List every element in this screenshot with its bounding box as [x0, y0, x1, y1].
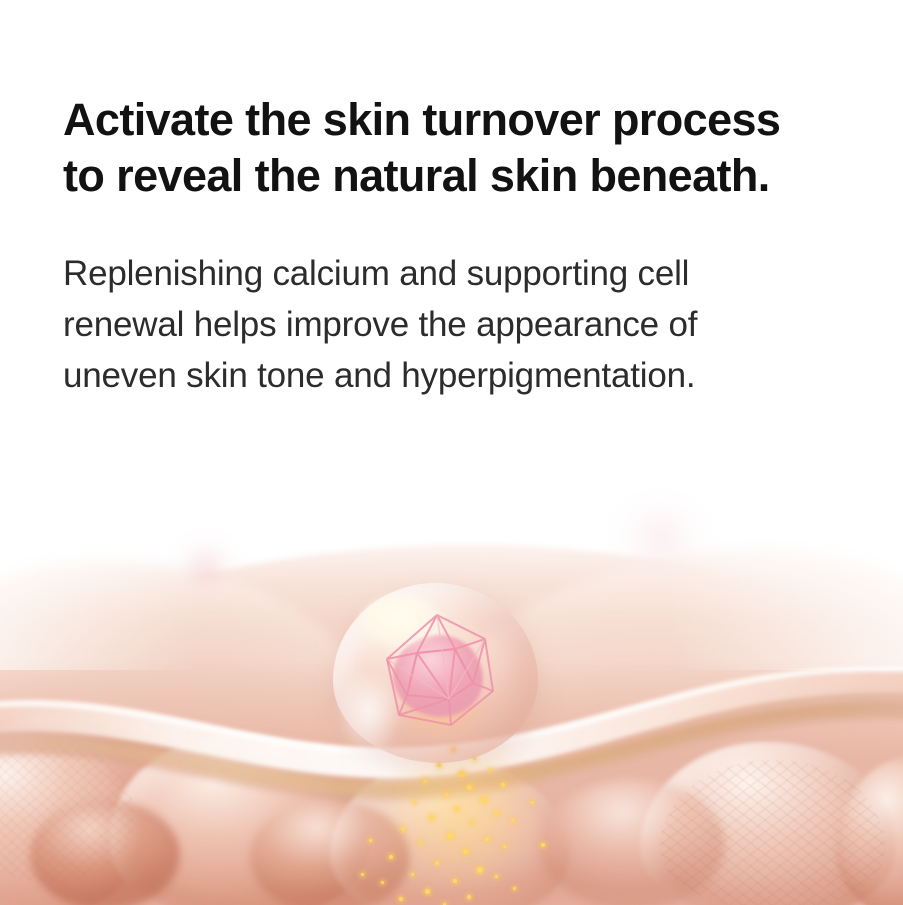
- background-bubble-right: [602, 472, 720, 584]
- gold-sparkles: [355, 745, 585, 905]
- wireframe-crystal: [333, 583, 538, 763]
- product-benefit-panel: Activate the skin turnover process to re…: [0, 0, 903, 905]
- page-title: Activate the skin turnover process to re…: [63, 92, 808, 204]
- background-bubble-left: [166, 524, 246, 600]
- body-copy: Replenishing calcium and supporting cell…: [63, 204, 815, 401]
- copy-block: Activate the skin turnover process to re…: [63, 92, 823, 401]
- main-capsule-bubble: [333, 583, 538, 763]
